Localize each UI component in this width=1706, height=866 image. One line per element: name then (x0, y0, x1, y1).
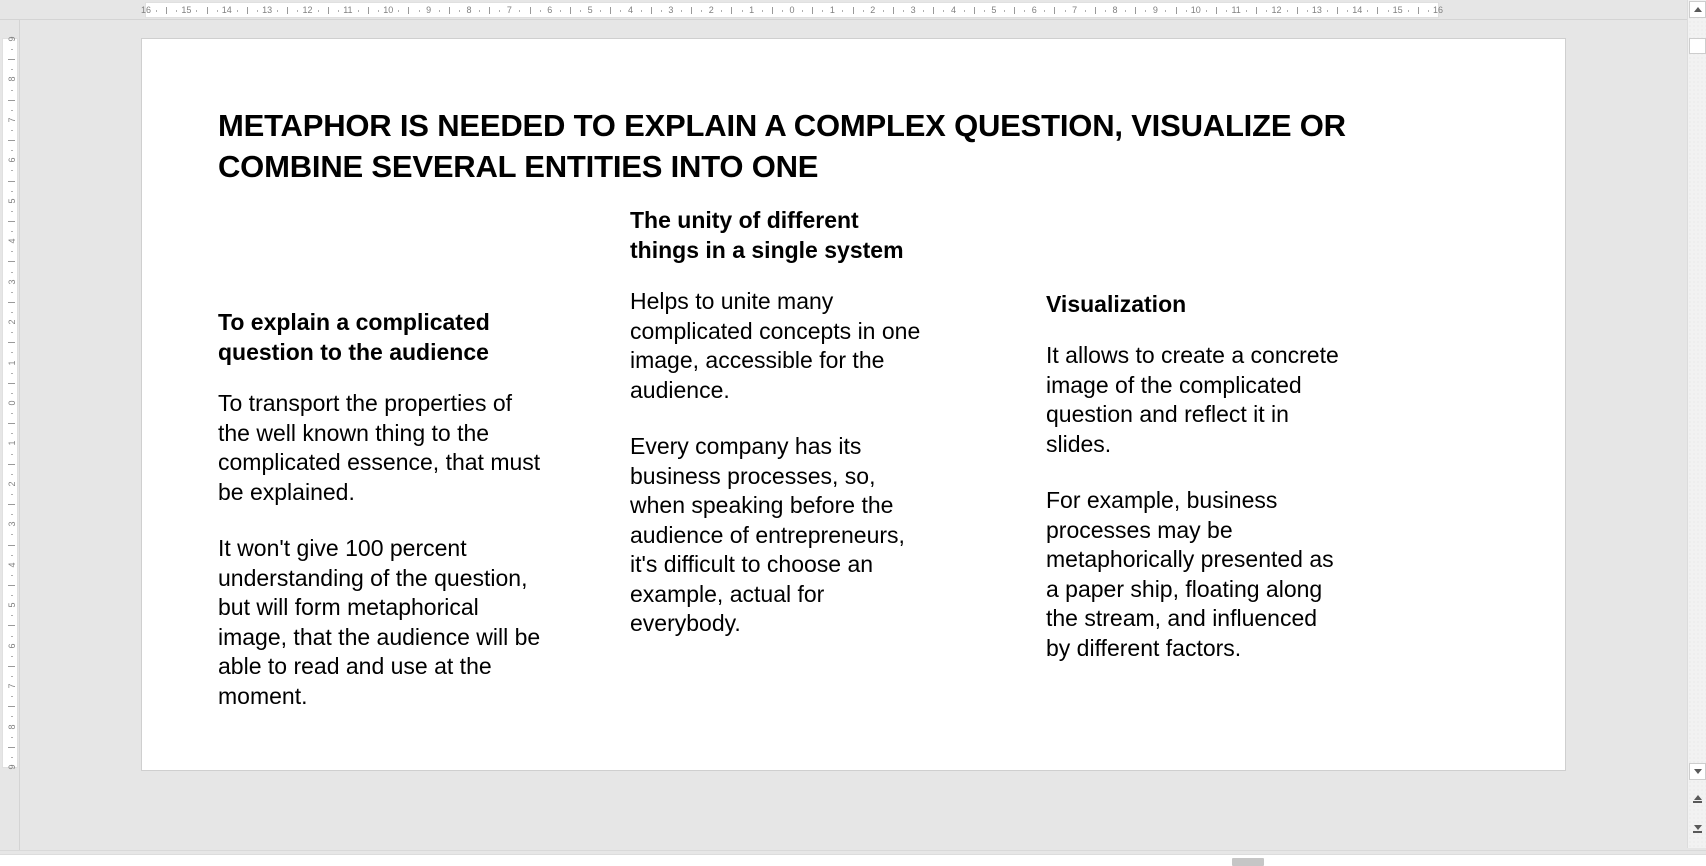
horizontal-ruler-tick (984, 10, 985, 12)
horizontal-ruler-tick (842, 10, 843, 12)
horizontal-ruler-tick (358, 10, 359, 12)
horizontal-ruler-label: 13 (262, 4, 272, 17)
horizontal-ruler-tick (822, 10, 823, 12)
horizontal-ruler-tick (318, 10, 319, 12)
horizontal-ruler-tick (903, 10, 904, 12)
vertical-ruler-label: 0 (7, 396, 17, 410)
horizontal-ruler-tick (1327, 10, 1328, 12)
column-right-heading[interactable]: Visualization (1046, 289, 1346, 319)
horizontal-ruler-tick (974, 7, 975, 14)
vertical-ruler-label: 9 (7, 32, 17, 46)
vertical-ruler-tick (8, 221, 15, 222)
vertical-ruler-track[interactable]: 9876543210123456789 (2, 38, 18, 768)
vertical-ruler-tick (11, 636, 13, 637)
horizontal-ruler-tick (933, 7, 934, 14)
horizontal-ruler-tick (1307, 10, 1308, 12)
vertical-ruler[interactable]: 9876543210123456789 (0, 20, 20, 866)
horizontal-ruler-ticks: 1615141312111098765432101234567891011121… (146, 3, 1438, 17)
horizontal-ruler-label: 11 (343, 4, 352, 17)
horizontal-ruler-tick (1044, 10, 1045, 12)
horizontal-ruler-tick (287, 7, 288, 14)
horizontal-ruler-tick (863, 10, 864, 12)
horizontal-ruler-tick (1337, 7, 1338, 14)
horizontal-ruler-label: 3 (668, 4, 673, 17)
horizontal-ruler-label: 12 (302, 4, 312, 17)
horizontal-ruler-label: 4 (951, 4, 956, 17)
horizontal-ruler-tick (1004, 10, 1005, 12)
horizontal-ruler-label: 6 (1032, 4, 1037, 17)
horizontal-ruler-label: 8 (1112, 4, 1117, 17)
vertical-ruler-tick (11, 474, 13, 475)
horizontal-ruler-label: 12 (1271, 4, 1281, 17)
vertical-ruler-tick (8, 140, 15, 141)
content-column-right[interactable]: Visualization It allows to create a conc… (1046, 289, 1346, 663)
horizontal-scrollbar-thumb[interactable] (1232, 858, 1264, 866)
vertical-ruler-tick (11, 676, 13, 677)
double-chevron-down-icon (1693, 825, 1702, 833)
horizontal-ruler-tick (681, 10, 682, 12)
vertical-ruler-tick (8, 423, 15, 424)
horizontal-ruler-label: 7 (507, 4, 512, 17)
horizontal-ruler-label: 11 (1231, 4, 1240, 17)
vertical-ruler-tick (11, 514, 13, 515)
horizontal-ruler-label: 4 (628, 4, 633, 17)
horizontal-ruler-label: 16 (141, 4, 151, 17)
vertical-ruler-tick (8, 383, 15, 384)
vertical-ruler-tick (8, 464, 15, 465)
horizontal-ruler-tick (1388, 10, 1389, 12)
column-right-paragraph-2: For example, business processes may be m… (1046, 486, 1346, 663)
horizontal-ruler-label: 15 (1393, 4, 1403, 17)
vertical-ruler-tick (8, 261, 15, 262)
horizontal-ruler-tick (328, 7, 329, 14)
horizontal-ruler-tick (398, 10, 399, 12)
horizontal-ruler-tick (1014, 7, 1015, 14)
horizontal-ruler-tick (560, 10, 561, 12)
horizontal-ruler-tick (540, 10, 541, 12)
horizontal-ruler-tick (580, 10, 581, 12)
vertical-ruler-tick (11, 494, 13, 495)
vertical-ruler-label: 5 (7, 598, 17, 612)
horizontal-ruler-tick (812, 7, 813, 14)
vertical-ruler-tick (11, 454, 13, 455)
vertical-ruler-tick (11, 231, 13, 232)
horizontal-ruler-tick (368, 7, 369, 14)
vertical-ruler-tick (11, 130, 13, 131)
horizontal-ruler-tick (943, 10, 944, 12)
vertical-ruler-tick (11, 352, 13, 353)
horizontal-ruler-tick (620, 10, 621, 12)
horizontal-ruler-label: 1 (830, 4, 835, 17)
horizontal-ruler-label: 2 (870, 4, 875, 17)
column-middle-body[interactable]: Helps to unite many complicated concepts… (630, 287, 930, 639)
column-middle-heading[interactable]: The unity of different things in a singl… (630, 205, 930, 265)
column-left-body[interactable]: To transport the properties of the well … (218, 389, 548, 711)
horizontal-ruler-label: 16 (1433, 4, 1443, 17)
horizontal-ruler-tick (530, 7, 531, 14)
vertical-ruler-tick (11, 90, 13, 91)
horizontal-ruler-tick (519, 10, 520, 12)
column-left-paragraph-2: It won't give 100 percent understanding … (218, 534, 548, 711)
horizontal-ruler-tick (378, 10, 379, 12)
horizontal-ruler-tick (439, 10, 440, 12)
horizontal-ruler-tick (207, 7, 208, 14)
horizontal-ruler-tick (1105, 10, 1106, 12)
vertical-ruler-label: 2 (7, 477, 17, 491)
vertical-ruler-label: 5 (7, 194, 17, 208)
content-column-left[interactable]: To explain a complicated question to the… (218, 307, 548, 711)
horizontal-ruler-track[interactable]: 1615141312111098765432101234567891011121… (145, 2, 1439, 18)
horizontal-ruler-tick (277, 10, 278, 12)
scroll-up-button[interactable] (1689, 1, 1706, 18)
slide-canvas-area[interactable]: METAPHOR IS NEEDED TO EXPLAIN A COMPLEX … (21, 21, 1680, 848)
vertical-ruler-tick (11, 393, 13, 394)
horizontal-ruler-label: 8 (466, 4, 471, 17)
vertical-ruler-tick (11, 272, 13, 273)
horizontal-ruler-tick (176, 10, 177, 12)
horizontal-ruler-tick (1206, 10, 1207, 12)
vertical-ruler-tick (11, 191, 13, 192)
scroll-down-button[interactable] (1689, 763, 1706, 780)
horizontal-ruler-label: 13 (1312, 4, 1322, 17)
vertical-ruler-tick (8, 100, 15, 101)
vertical-ruler-label: 6 (7, 639, 17, 653)
triangle-up-icon (1694, 7, 1702, 12)
horizontal-ruler-tick (338, 10, 339, 12)
horizontal-ruler-tick (297, 10, 298, 12)
vertical-ruler-label: 4 (7, 234, 17, 248)
slide-title[interactable]: METAPHOR IS NEEDED TO EXPLAIN A COMPLEX … (218, 105, 1478, 187)
vertical-ruler-label: 3 (7, 275, 17, 289)
horizontal-ruler-tick (1418, 7, 1419, 14)
horizontal-ruler-label: 5 (991, 4, 996, 17)
horizontal-ruler-tick (782, 10, 783, 12)
vertical-ruler-label: 1 (7, 356, 17, 370)
vertical-ruler-tick (11, 555, 13, 556)
horizontal-ruler-tick (1145, 10, 1146, 12)
horizontal-ruler-tick (762, 10, 763, 12)
vertical-scrollbar-thumb[interactable] (1689, 38, 1706, 54)
horizontal-ruler-tick (1085, 10, 1086, 12)
horizontal-ruler-label: 9 (426, 4, 431, 17)
vertical-ruler-label: 8 (7, 720, 17, 734)
horizontal-ruler-tick (1125, 10, 1126, 12)
horizontal-ruler-tick (419, 10, 420, 12)
horizontal-ruler-tick (1408, 10, 1409, 12)
vertical-ruler-tick (8, 59, 15, 60)
vertical-ruler-tick (11, 69, 13, 70)
horizontal-ruler-tick (661, 10, 662, 12)
vertical-ruler-tick (8, 666, 15, 667)
horizontal-ruler-tick (257, 10, 258, 12)
vertical-ruler-tick (11, 332, 13, 333)
horizontal-ruler-label: 6 (547, 4, 552, 17)
vertical-scrollbar[interactable] (1687, 0, 1706, 848)
vertical-ruler-tick (11, 595, 13, 596)
horizontal-ruler-tick (600, 10, 601, 12)
horizontal-ruler-tick (1095, 7, 1096, 14)
vertical-ruler-tick (8, 545, 15, 546)
horizontal-ruler-tick (570, 7, 571, 14)
previous-slide-button[interactable] (1689, 788, 1706, 810)
vertical-ruler-tick (8, 181, 15, 182)
column-middle-paragraph-1: Helps to unite many complicated concepts… (630, 287, 930, 405)
horizontal-ruler-tick (1135, 7, 1136, 14)
vertical-ruler-tick (11, 211, 13, 212)
horizontal-ruler-tick (459, 10, 460, 12)
vertical-ruler-tick (11, 170, 13, 171)
slide-surface[interactable]: METAPHOR IS NEEDED TO EXPLAIN A COMPLEX … (141, 38, 1566, 771)
vertical-ruler-tick (8, 706, 15, 707)
double-chevron-up-icon (1693, 795, 1702, 803)
horizontal-ruler-tick (651, 7, 652, 14)
vertical-ruler-label: 1 (7, 436, 17, 450)
horizontal-scrollbar[interactable] (0, 854, 1706, 866)
vertical-ruler-label: 7 (7, 679, 17, 693)
vertical-ruler-tick (11, 615, 13, 616)
horizontal-ruler-tick (1024, 10, 1025, 12)
vertical-ruler-tick (11, 373, 13, 374)
horizontal-ruler-tick (691, 7, 692, 14)
horizontal-ruler-tick (853, 7, 854, 14)
horizontal-ruler-label: 2 (709, 4, 714, 17)
vertical-ruler-tick (11, 251, 13, 252)
horizontal-ruler-tick (1266, 10, 1267, 12)
horizontal-ruler-tick (1347, 10, 1348, 12)
horizontal-ruler-tick (499, 10, 500, 12)
vertical-ruler-label: 9 (7, 760, 17, 774)
horizontal-ruler-tick (449, 7, 450, 14)
horizontal-ruler-tick (742, 10, 743, 12)
horizontal-ruler-tick (1176, 7, 1177, 14)
horizontal-ruler-tick (1065, 10, 1066, 12)
horizontal-ruler-label: 14 (1352, 4, 1362, 17)
vertical-ruler-tick (11, 413, 13, 414)
horizontal-ruler-tick (893, 7, 894, 14)
vertical-ruler-label: 3 (7, 517, 17, 531)
horizontal-ruler-label: 15 (181, 4, 191, 17)
horizontal-ruler-tick (166, 7, 167, 14)
vertical-ruler-label: 2 (7, 315, 17, 329)
vertical-ruler-tick (8, 342, 15, 343)
horizontal-ruler-tick (731, 7, 732, 14)
horizontal-ruler-label: 10 (383, 4, 393, 17)
horizontal-ruler-tick (489, 7, 490, 14)
horizontal-ruler-tick (1256, 7, 1257, 14)
horizontal-ruler-tick (247, 7, 248, 14)
vertical-ruler-label: 7 (7, 113, 17, 127)
triangle-down-icon (1694, 769, 1702, 774)
vertical-ruler-tick (8, 504, 15, 505)
horizontal-ruler-tick (1297, 7, 1298, 14)
vertical-ruler-tick (11, 150, 13, 151)
vertical-ruler-tick (11, 312, 13, 313)
next-slide-button[interactable] (1689, 818, 1706, 840)
horizontal-ruler-tick (1287, 10, 1288, 12)
horizontal-ruler-tick (1367, 10, 1368, 12)
horizontal-ruler-tick (1428, 10, 1429, 12)
column-right-body[interactable]: It allows to create a concrete image of … (1046, 341, 1346, 663)
horizontal-ruler-label: 9 (1153, 4, 1158, 17)
vertical-ruler-tick (11, 110, 13, 111)
vertical-ruler-tick (11, 534, 13, 535)
horizontal-ruler-tick (1246, 10, 1247, 12)
vertical-ruler-tick (8, 747, 15, 748)
vertical-ruler-label: 6 (7, 153, 17, 167)
vertical-ruler-tick (8, 585, 15, 586)
horizontal-ruler-tick (772, 7, 773, 14)
horizontal-ruler-label: 7 (1072, 4, 1077, 17)
vertical-ruler-label: 4 (7, 558, 17, 572)
vertical-ruler-tick (11, 696, 13, 697)
column-right-paragraph-1: It allows to create a concrete image of … (1046, 341, 1346, 459)
horizontal-ruler-label: 0 (789, 4, 794, 17)
vertical-ruler-tick (11, 716, 13, 717)
horizontal-ruler-tick (701, 10, 702, 12)
horizontal-ruler-tick (964, 10, 965, 12)
horizontal-ruler-tick (479, 10, 480, 12)
vertical-ruler-tick (11, 737, 13, 738)
horizontal-ruler-label: 3 (911, 4, 916, 17)
column-left-paragraph-1: To transport the properties of the well … (218, 389, 548, 507)
vertical-ruler-label: 8 (7, 72, 17, 86)
vertical-ruler-tick (8, 625, 15, 626)
horizontal-ruler-label: 14 (222, 4, 232, 17)
column-middle-paragraph-2: Every company has its business processes… (630, 432, 930, 639)
horizontal-ruler-tick (1377, 7, 1378, 14)
horizontal-ruler-tick (721, 10, 722, 12)
horizontal-ruler-tick (1165, 10, 1166, 12)
horizontal-ruler-tick (196, 10, 197, 12)
horizontal-ruler-tick (217, 10, 218, 12)
horizontal-ruler-tick (1216, 7, 1217, 14)
vertical-ruler-tick (11, 433, 13, 434)
vertical-ruler-tick (11, 575, 13, 576)
column-left-heading[interactable]: To explain a complicated question to the… (218, 307, 548, 367)
vertical-ruler-tick (11, 656, 13, 657)
horizontal-ruler-tick (802, 10, 803, 12)
vertical-ruler-tick (11, 292, 13, 293)
horizontal-ruler-tick (237, 10, 238, 12)
horizontal-ruler-tick (641, 10, 642, 12)
horizontal-ruler-tick (1226, 10, 1227, 12)
horizontal-ruler[interactable]: 1615141312111098765432101234567891011121… (0, 0, 1706, 20)
vertical-ruler-tick (11, 49, 13, 50)
horizontal-ruler-label: 5 (588, 4, 593, 17)
horizontal-ruler-tick (156, 10, 157, 12)
horizontal-ruler-tick (923, 10, 924, 12)
horizontal-ruler-tick (408, 7, 409, 14)
horizontal-ruler-label: 10 (1191, 4, 1201, 17)
vertical-ruler-tick (8, 302, 15, 303)
content-column-middle[interactable]: The unity of different things in a singl… (630, 205, 930, 639)
presentation-editor-window: 1615141312111098765432101234567891011121… (0, 0, 1706, 866)
horizontal-ruler-tick (610, 7, 611, 14)
horizontal-ruler-label: 1 (749, 4, 754, 17)
horizontal-ruler-tick (883, 10, 884, 12)
horizontal-ruler-tick (1186, 10, 1187, 12)
horizontal-ruler-tick (1054, 7, 1055, 14)
vertical-ruler-tick (11, 757, 13, 758)
